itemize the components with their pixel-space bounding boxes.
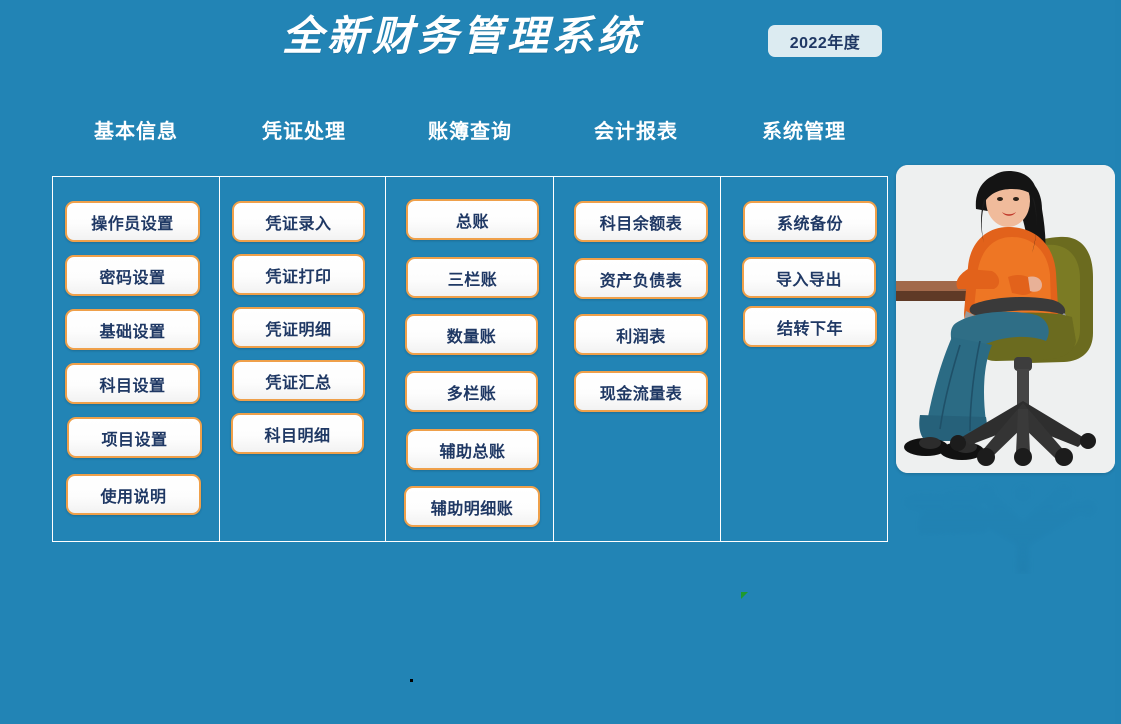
category-header-voucher: 凭证处理 <box>220 117 388 147</box>
app-header: 全新财务管理系统 2022年度 <box>0 0 1121 82</box>
menu-category-headers: 基本信息 凭证处理 账簿查询 会计报表 系统管理 <box>52 117 888 149</box>
menu-item-account-settings[interactable]: 科目设置 <box>65 363 200 404</box>
green-triangle-marker <box>741 592 748 599</box>
menu-item-password-settings[interactable]: 密码设置 <box>65 255 200 296</box>
menu-column-ledger-query: 总账 三栏账 数量账 多栏账 辅助总账 辅助明细账 <box>385 177 553 541</box>
menu-item-income-statement[interactable]: 利润表 <box>574 314 708 355</box>
menu-item-voucher-summary[interactable]: 凭证汇总 <box>232 360 365 401</box>
menu-item-three-column-ledger[interactable]: 三栏账 <box>406 257 539 298</box>
menu-item-user-manual[interactable]: 使用说明 <box>66 474 201 515</box>
woman-at-desk-icon <box>896 165 1115 473</box>
menu-panel: 操作员设置 密码设置 基础设置 科目设置 项目设置 使用说明 凭证录入 凭证打印… <box>52 176 888 542</box>
menu-item-general-ledger[interactable]: 总账 <box>406 199 539 240</box>
menu-item-operator-settings[interactable]: 操作员设置 <box>65 201 200 242</box>
menu-item-voucher-print[interactable]: 凭证打印 <box>232 254 365 295</box>
financial-system-home: 全新财务管理系统 2022年度 基本信息 凭证处理 账簿查询 会计报表 系统管理… <box>0 0 1121 724</box>
chair-column <box>1017 369 1029 405</box>
black-dot-marker <box>410 679 413 682</box>
menu-item-quantity-ledger[interactable]: 数量账 <box>405 314 538 355</box>
page-title: 全新财务管理系统 <box>262 6 662 66</box>
category-header-system-admin: 系统管理 <box>720 117 888 147</box>
menu-item-system-backup[interactable]: 系统备份 <box>743 201 877 242</box>
year-badge[interactable]: 2022年度 <box>768 25 882 57</box>
menu-column-basic-info: 操作员设置 密码设置 基础设置 科目设置 项目设置 使用说明 <box>53 177 219 541</box>
woman-at-desk-illustration <box>896 165 1115 473</box>
menu-column-voucher: 凭证录入 凭证打印 凭证明细 凭证汇总 科目明细 <box>219 177 385 541</box>
menu-item-account-detail[interactable]: 科目明细 <box>231 413 364 454</box>
category-header-basic-info: 基本信息 <box>52 117 220 147</box>
menu-item-multi-column-ledger[interactable]: 多栏账 <box>405 371 538 412</box>
menu-item-balance-sheet[interactable]: 资产负债表 <box>574 258 708 299</box>
category-header-reports: 会计报表 <box>552 117 720 147</box>
menu-item-auxiliary-detail-ledger[interactable]: 辅助明细账 <box>404 486 540 527</box>
right-edge-strip <box>1115 0 1121 724</box>
menu-column-system-admin: 系统备份 导入导出 结转下年 <box>720 177 887 541</box>
menu-column-reports: 科目余额表 资产负债表 利润表 现金流量表 <box>553 177 720 541</box>
menu-item-import-export[interactable]: 导入导出 <box>742 257 876 298</box>
menu-item-auxiliary-general-ledger[interactable]: 辅助总账 <box>406 429 539 470</box>
menu-item-voucher-entry[interactable]: 凭证录入 <box>232 201 365 242</box>
menu-item-trial-balance[interactable]: 科目余额表 <box>574 201 708 242</box>
menu-item-voucher-detail[interactable]: 凭证明细 <box>232 307 365 348</box>
category-header-ledger-query: 账簿查询 <box>386 117 554 147</box>
menu-item-project-settings[interactable]: 项目设置 <box>67 417 202 458</box>
menu-item-basic-settings[interactable]: 基础设置 <box>65 309 200 350</box>
menu-item-year-end-carryover[interactable]: 结转下年 <box>743 306 877 347</box>
illustration-reflection <box>896 476 1115 574</box>
menu-item-cash-flow-statement[interactable]: 现金流量表 <box>574 371 708 412</box>
